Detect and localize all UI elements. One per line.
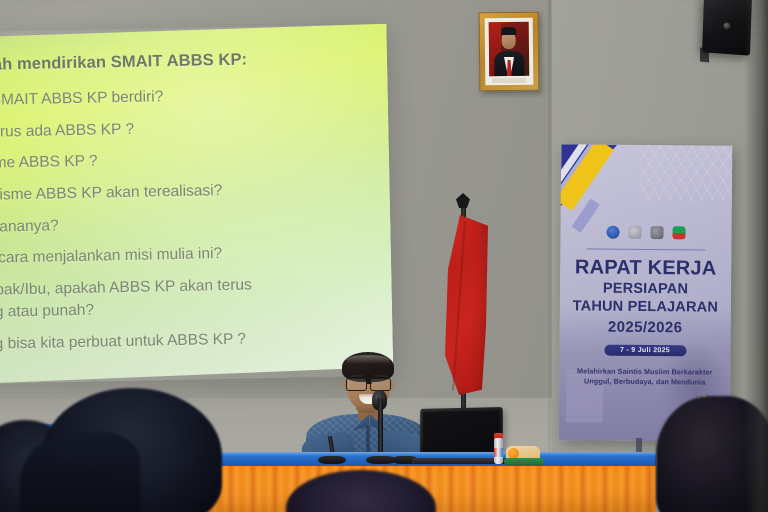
snack-tray: [504, 458, 544, 465]
slide-line-4: n idealisme ABBS KP akan terealisasi?: [0, 179, 384, 206]
slide-line-1: apan SMAIT ABBS KP berdiri?: [0, 84, 382, 111]
table-top-highlight: [176, 452, 656, 456]
foundation-logo-icon: [650, 226, 663, 239]
slide-line-9: h yang bisa kita perbuat untuk ABBS KP ?: [0, 328, 387, 355]
jsit-logo-icon: [672, 226, 685, 239]
eyeglasses-icon: [345, 378, 392, 389]
microphone-base-secondary: [318, 456, 346, 464]
banner-title: RAPAT KERJA: [560, 256, 731, 280]
wall-seam: [548, 0, 551, 512]
slide-content: h-darah mendirikan SMAIT ABBS KP: apan S…: [0, 24, 393, 385]
slide-line-8: mbang atau punah?: [0, 296, 386, 323]
banner-date-badge: 7 - 9 Juli 2025: [604, 345, 686, 357]
banner-tagline-2: Unggul, Berbudaya, dan Mendunia: [559, 376, 730, 386]
laptop-screen: [423, 410, 500, 458]
school-logo-icon: [628, 225, 641, 238]
speaker-driver-icon: [723, 22, 730, 29]
water-bottle-label: [494, 448, 503, 457]
banner-tagline-1: Melahirkan Saintis Muslim Berkarakter: [559, 366, 730, 376]
seminar-room-photo: h-darah mendirikan SMAIT ABBS KP: apan S…: [0, 0, 768, 512]
slide-heading: h-darah mendirikan SMAIT ABBS KP:: [0, 48, 371, 75]
portrait-songkok-icon: [501, 27, 516, 35]
portrait-nameplate: [492, 78, 527, 83]
portrait-photo: [489, 22, 530, 76]
portrait-mat: [485, 18, 534, 85]
presenter-hair-highlight: [346, 355, 390, 364]
projection-screen: h-darah mendirikan SMAIT ABBS KP: apan S…: [0, 24, 393, 385]
slide-line-6: mana cara menjalankan misi mulia ini?: [0, 242, 385, 269]
framed-portrait: [479, 12, 540, 92]
banner-year: 2025/2026: [560, 318, 731, 336]
slide-line-3: dealisme ABBS KP ?: [0, 147, 383, 174]
banner-logo-row: [560, 222, 731, 241]
banner-subtitle-2: TAHUN PELAJARAN: [560, 298, 731, 315]
banner-divider: [586, 248, 706, 250]
kemendikbud-logo-icon: [606, 225, 619, 238]
banner-pattern: [640, 145, 732, 202]
banner-subtitle-1: PERSIAPAN: [560, 280, 731, 297]
right-edge-shadow: [744, 0, 768, 512]
slide-line-5: pelaksananya?: [0, 211, 385, 238]
presenter: [300, 352, 430, 467]
slide-line-2: apa harus ada ABBS KP ?: [0, 116, 383, 143]
eyeglass-lens-left: [346, 378, 367, 391]
indonesian-flag: [438, 215, 488, 395]
